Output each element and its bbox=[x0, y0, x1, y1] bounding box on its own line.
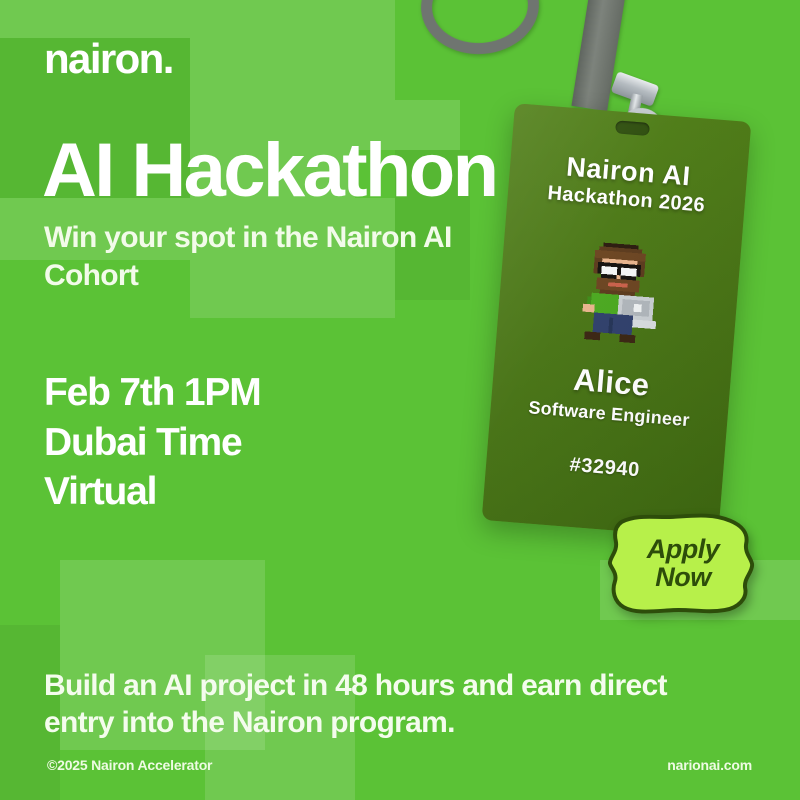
bg-square bbox=[0, 0, 190, 38]
lanyard-loop bbox=[418, 0, 542, 58]
subheadline: Win your spot in the Nairon AI Cohort bbox=[44, 219, 514, 296]
website-url[interactable]: narionai.com bbox=[667, 757, 752, 773]
badge-grommet-hole bbox=[615, 120, 650, 136]
pixel-developer-icon bbox=[571, 237, 665, 353]
apply-now-button[interactable]: Apply Now bbox=[604, 512, 762, 616]
sticker-blob-shape bbox=[604, 512, 762, 616]
nairon-logo: nairon. bbox=[44, 38, 173, 80]
tagline: Build an AI project in 48 hours and earn… bbox=[44, 668, 724, 741]
event-details: Feb 7th 1PM Dubai Time Virtual bbox=[44, 368, 261, 517]
copyright-text: ©2025 Nairon Accelerator bbox=[47, 757, 212, 773]
event-timezone: Dubai Time bbox=[44, 418, 261, 468]
promo-poster: nairon. AI Hackathon Win your spot in th… bbox=[0, 0, 800, 800]
badge-attendee-id: #32940 bbox=[486, 447, 724, 489]
event-date-time: Feb 7th 1PM bbox=[44, 368, 261, 418]
event-format: Virtual bbox=[44, 467, 261, 517]
conference-badge-card: Nairon AI Hackathon 2026 bbox=[482, 103, 752, 539]
bg-square bbox=[190, 0, 395, 100]
avatar bbox=[571, 237, 666, 354]
page-title: AI Hackathon bbox=[42, 133, 496, 209]
